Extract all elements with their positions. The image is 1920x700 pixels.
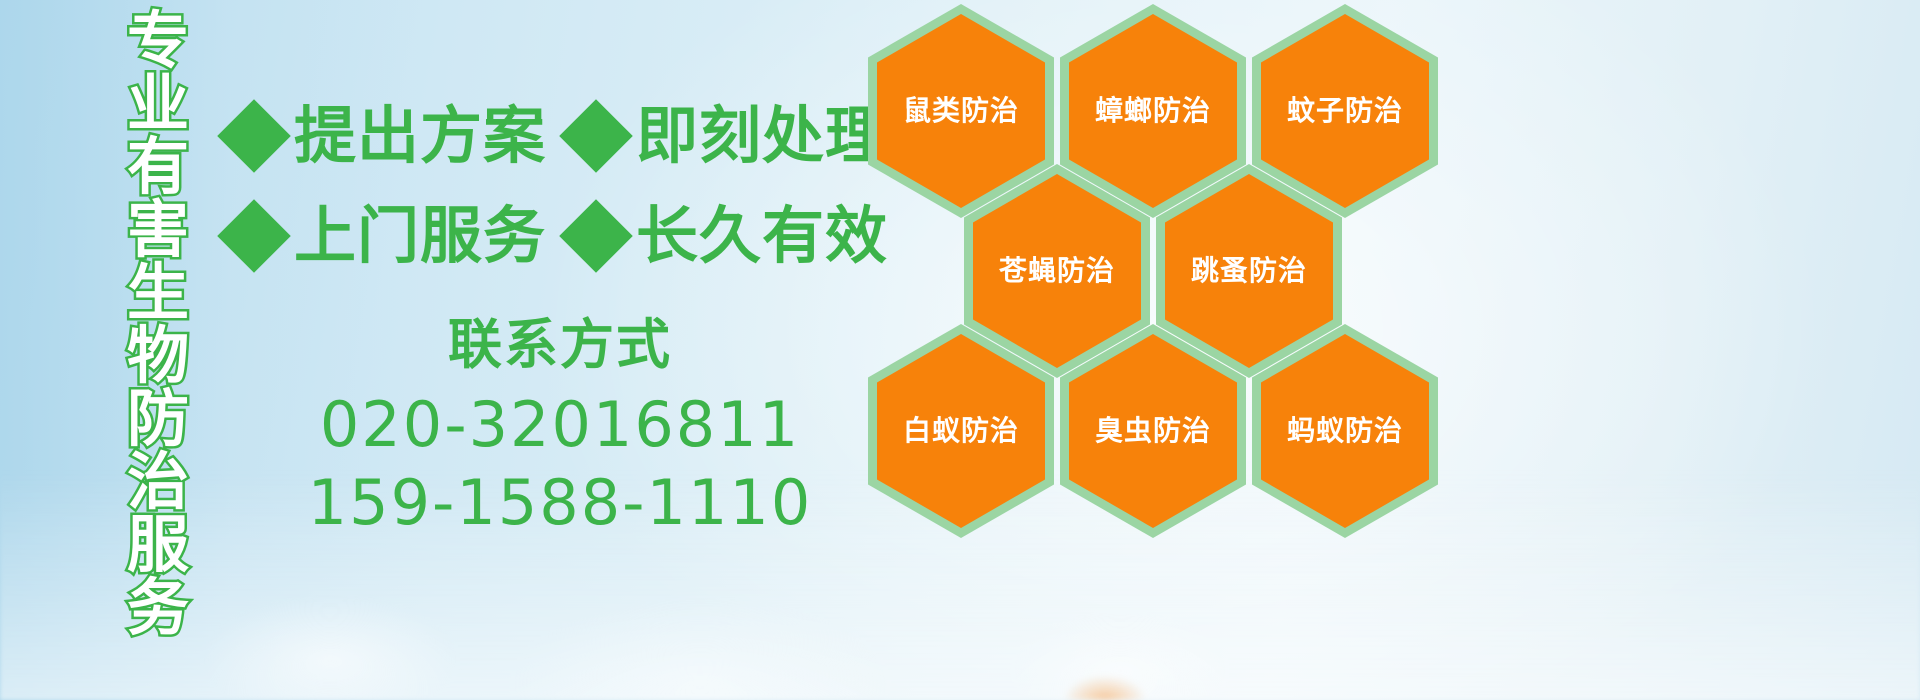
- vertical-slogan-char: 业: [127, 73, 189, 135]
- hex-inner: 鼠类防治: [877, 14, 1045, 208]
- feature-label: 即刻处理: [636, 105, 888, 167]
- hex-label: 蟑螂防治: [1095, 95, 1211, 127]
- diamond-icon: [217, 199, 291, 273]
- service-honeycomb: 鼠类防治 蟑螂防治 蚊子防治 苍蝇防治 跳蚤防治 白蚁防治: [862, 0, 1462, 700]
- hex-label: 跳蚤防治: [1191, 255, 1307, 287]
- hex-label: 鼠类防治: [903, 95, 1019, 127]
- hex-label: 蚂蚁防治: [1287, 415, 1403, 447]
- feature-row: 提出方案 即刻处理: [228, 86, 868, 186]
- hex-label: 蚊子防治: [1287, 95, 1403, 127]
- feature-item-onsite-service: 上门服务: [228, 205, 546, 267]
- hex-inner: 白蚁防治: [877, 334, 1045, 528]
- vertical-slogan-char: 物: [127, 325, 189, 387]
- hex-inner: 跳蚤防治: [1165, 174, 1333, 368]
- diamond-icon: [559, 99, 633, 173]
- hex-inner: 蚂蚁防治: [1261, 334, 1429, 528]
- feature-row: 上门服务 长久有效: [228, 186, 868, 286]
- feature-label: 上门服务: [294, 205, 546, 267]
- vertical-slogan-char: 专: [127, 10, 189, 72]
- hex-inner: 苍蝇防治: [973, 174, 1141, 368]
- vertical-slogan-char: 防: [127, 388, 189, 450]
- vertical-slogan-char: 治: [127, 451, 189, 513]
- contact-block: 联系方式 020-32016811 159-1588-1110: [300, 312, 820, 542]
- vertical-slogan-char: 务: [127, 577, 189, 639]
- hex-label: 臭虫防治: [1095, 415, 1211, 447]
- phone-number-landline[interactable]: 020-32016811: [300, 386, 820, 464]
- pest-control-banner: 专 业 有 害 生 物 防 治 服 务 提出方案 即刻处理 上门服务: [0, 0, 1920, 700]
- vertical-slogan: 专 业 有 害 生 物 防 治 服 务: [106, 10, 210, 570]
- phone-number-mobile[interactable]: 159-1588-1110: [300, 464, 820, 542]
- feature-item-long-lasting: 长久有效: [570, 205, 888, 267]
- vertical-slogan-char: 服: [127, 514, 189, 576]
- hex-inner: 蟑螂防治: [1069, 14, 1237, 208]
- vertical-slogan-char: 有: [127, 136, 189, 198]
- diamond-icon: [559, 199, 633, 273]
- hex-inner: 蚊子防治: [1261, 14, 1429, 208]
- diamond-icon: [217, 99, 291, 173]
- hex-label: 白蚁防治: [903, 415, 1019, 447]
- feature-label: 长久有效: [636, 205, 888, 267]
- feature-label: 提出方案: [294, 105, 546, 167]
- feature-item-propose-plan: 提出方案: [228, 105, 546, 167]
- vertical-slogan-char: 害: [127, 199, 189, 261]
- feature-list: 提出方案 即刻处理 上门服务 长久有效: [228, 86, 868, 286]
- contact-heading: 联系方式: [300, 312, 820, 378]
- feature-item-immediate-action: 即刻处理: [570, 105, 888, 167]
- vertical-slogan-char: 生: [127, 262, 189, 324]
- hex-inner: 臭虫防治: [1069, 334, 1237, 528]
- hex-label: 苍蝇防治: [999, 255, 1115, 287]
